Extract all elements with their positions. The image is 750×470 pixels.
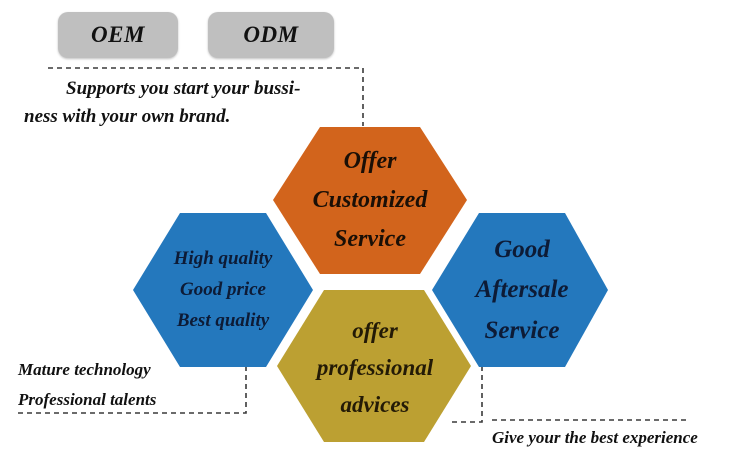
hexagon-blue-left[interactable] (133, 213, 313, 367)
caption-top-line-1: Supports you start your bussi- (66, 78, 300, 100)
hexagon-orange[interactable] (273, 127, 467, 274)
caption-bottom-left-line-2: Professional talents (18, 390, 156, 410)
badge-oem-label: OEM (91, 22, 145, 48)
hexagon-blue-right[interactable] (432, 213, 608, 367)
badge-odm[interactable]: ODM (208, 12, 334, 58)
caption-bottom-right: Give your the best experience (492, 428, 698, 448)
hexagon-gold[interactable] (277, 290, 471, 442)
infographic-canvas: Offer Customized Service High quality Go… (0, 0, 750, 470)
caption-bottom-left-line-1: Mature technology (18, 360, 151, 380)
badge-oem[interactable]: OEM (58, 12, 178, 58)
badge-odm-label: ODM (243, 22, 298, 48)
caption-top-line-2: ness with your own brand. (24, 106, 230, 128)
